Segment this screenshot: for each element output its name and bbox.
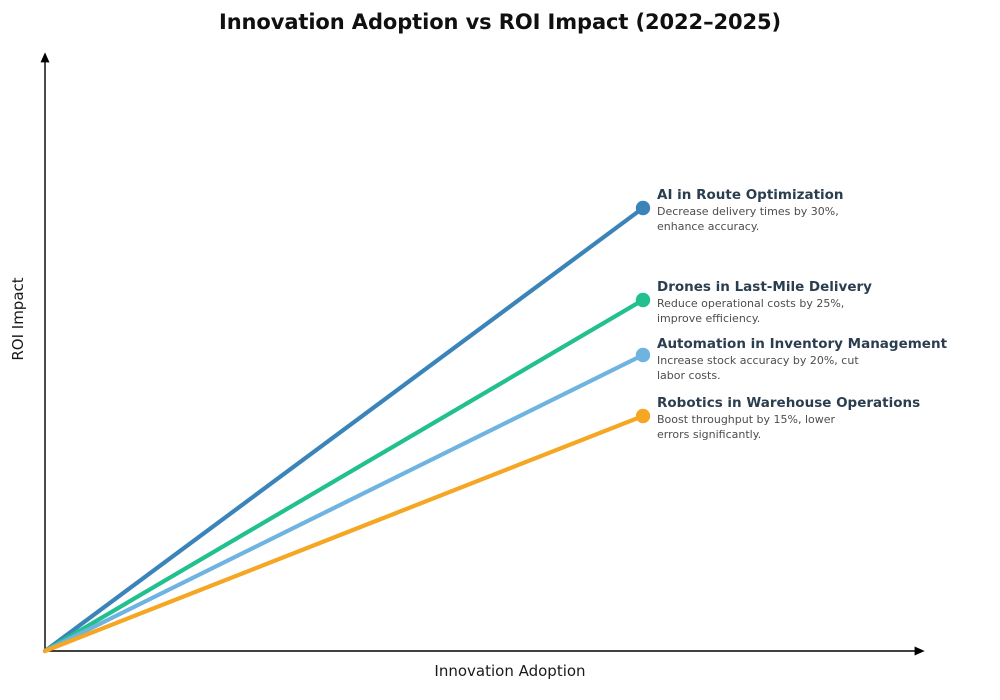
series-annotation-description-line1: Reduce operational costs by 25%, — [657, 297, 872, 311]
series-line-0[interactable] — [45, 208, 643, 651]
series-endpoint-marker-1[interactable] — [636, 293, 650, 307]
chart-canvas: Innovation Adoption vs ROI Impact (2022–… — [0, 0, 1000, 700]
series-line-3[interactable] — [45, 416, 643, 651]
series-annotation-description-line2: improve efficiency. — [657, 312, 872, 326]
series-annotation-description-line2: enhance accuracy. — [657, 220, 844, 234]
series-line-1[interactable] — [45, 300, 643, 651]
series-annotation-description-line2: errors significantly. — [657, 428, 920, 442]
series-endpoint-marker-3[interactable] — [636, 409, 650, 423]
series-annotation-title: AI in Route Optimization — [657, 187, 844, 204]
x-axis-label: Innovation Adoption — [240, 662, 780, 680]
series-line-2[interactable] — [45, 355, 643, 651]
series-annotation-automation-in-inventory-management[interactable]: Automation in Inventory Management Incre… — [657, 336, 947, 382]
series-annotation-description-line1: Decrease delivery times by 30%, — [657, 205, 844, 219]
series-annotation-ai-in-route-optimization[interactable]: AI in Route Optimization Decrease delive… — [657, 187, 844, 233]
series-endpoint-marker-0[interactable] — [636, 201, 650, 215]
y-axis-label: ROI Impact — [9, 259, 27, 379]
series-annotation-title: Robotics in Warehouse Operations — [657, 395, 920, 412]
series-annotation-robotics-in-warehouse-operations[interactable]: Robotics in Warehouse Operations Boost t… — [657, 395, 920, 441]
series-annotation-description-line2: labor costs. — [657, 369, 947, 383]
series-lines-group — [45, 208, 643, 651]
series-annotation-description-line1: Boost throughput by 15%, lower — [657, 413, 920, 427]
series-annotation-title: Drones in Last-Mile Delivery — [657, 279, 872, 296]
series-markers-group — [636, 201, 650, 423]
series-endpoint-marker-2[interactable] — [636, 348, 650, 362]
series-annotation-drones-in-last-mile-delivery[interactable]: Drones in Last-Mile Delivery Reduce oper… — [657, 279, 872, 325]
series-annotation-description-line1: Increase stock accuracy by 20%, cut — [657, 354, 947, 368]
series-annotation-title: Automation in Inventory Management — [657, 336, 947, 353]
